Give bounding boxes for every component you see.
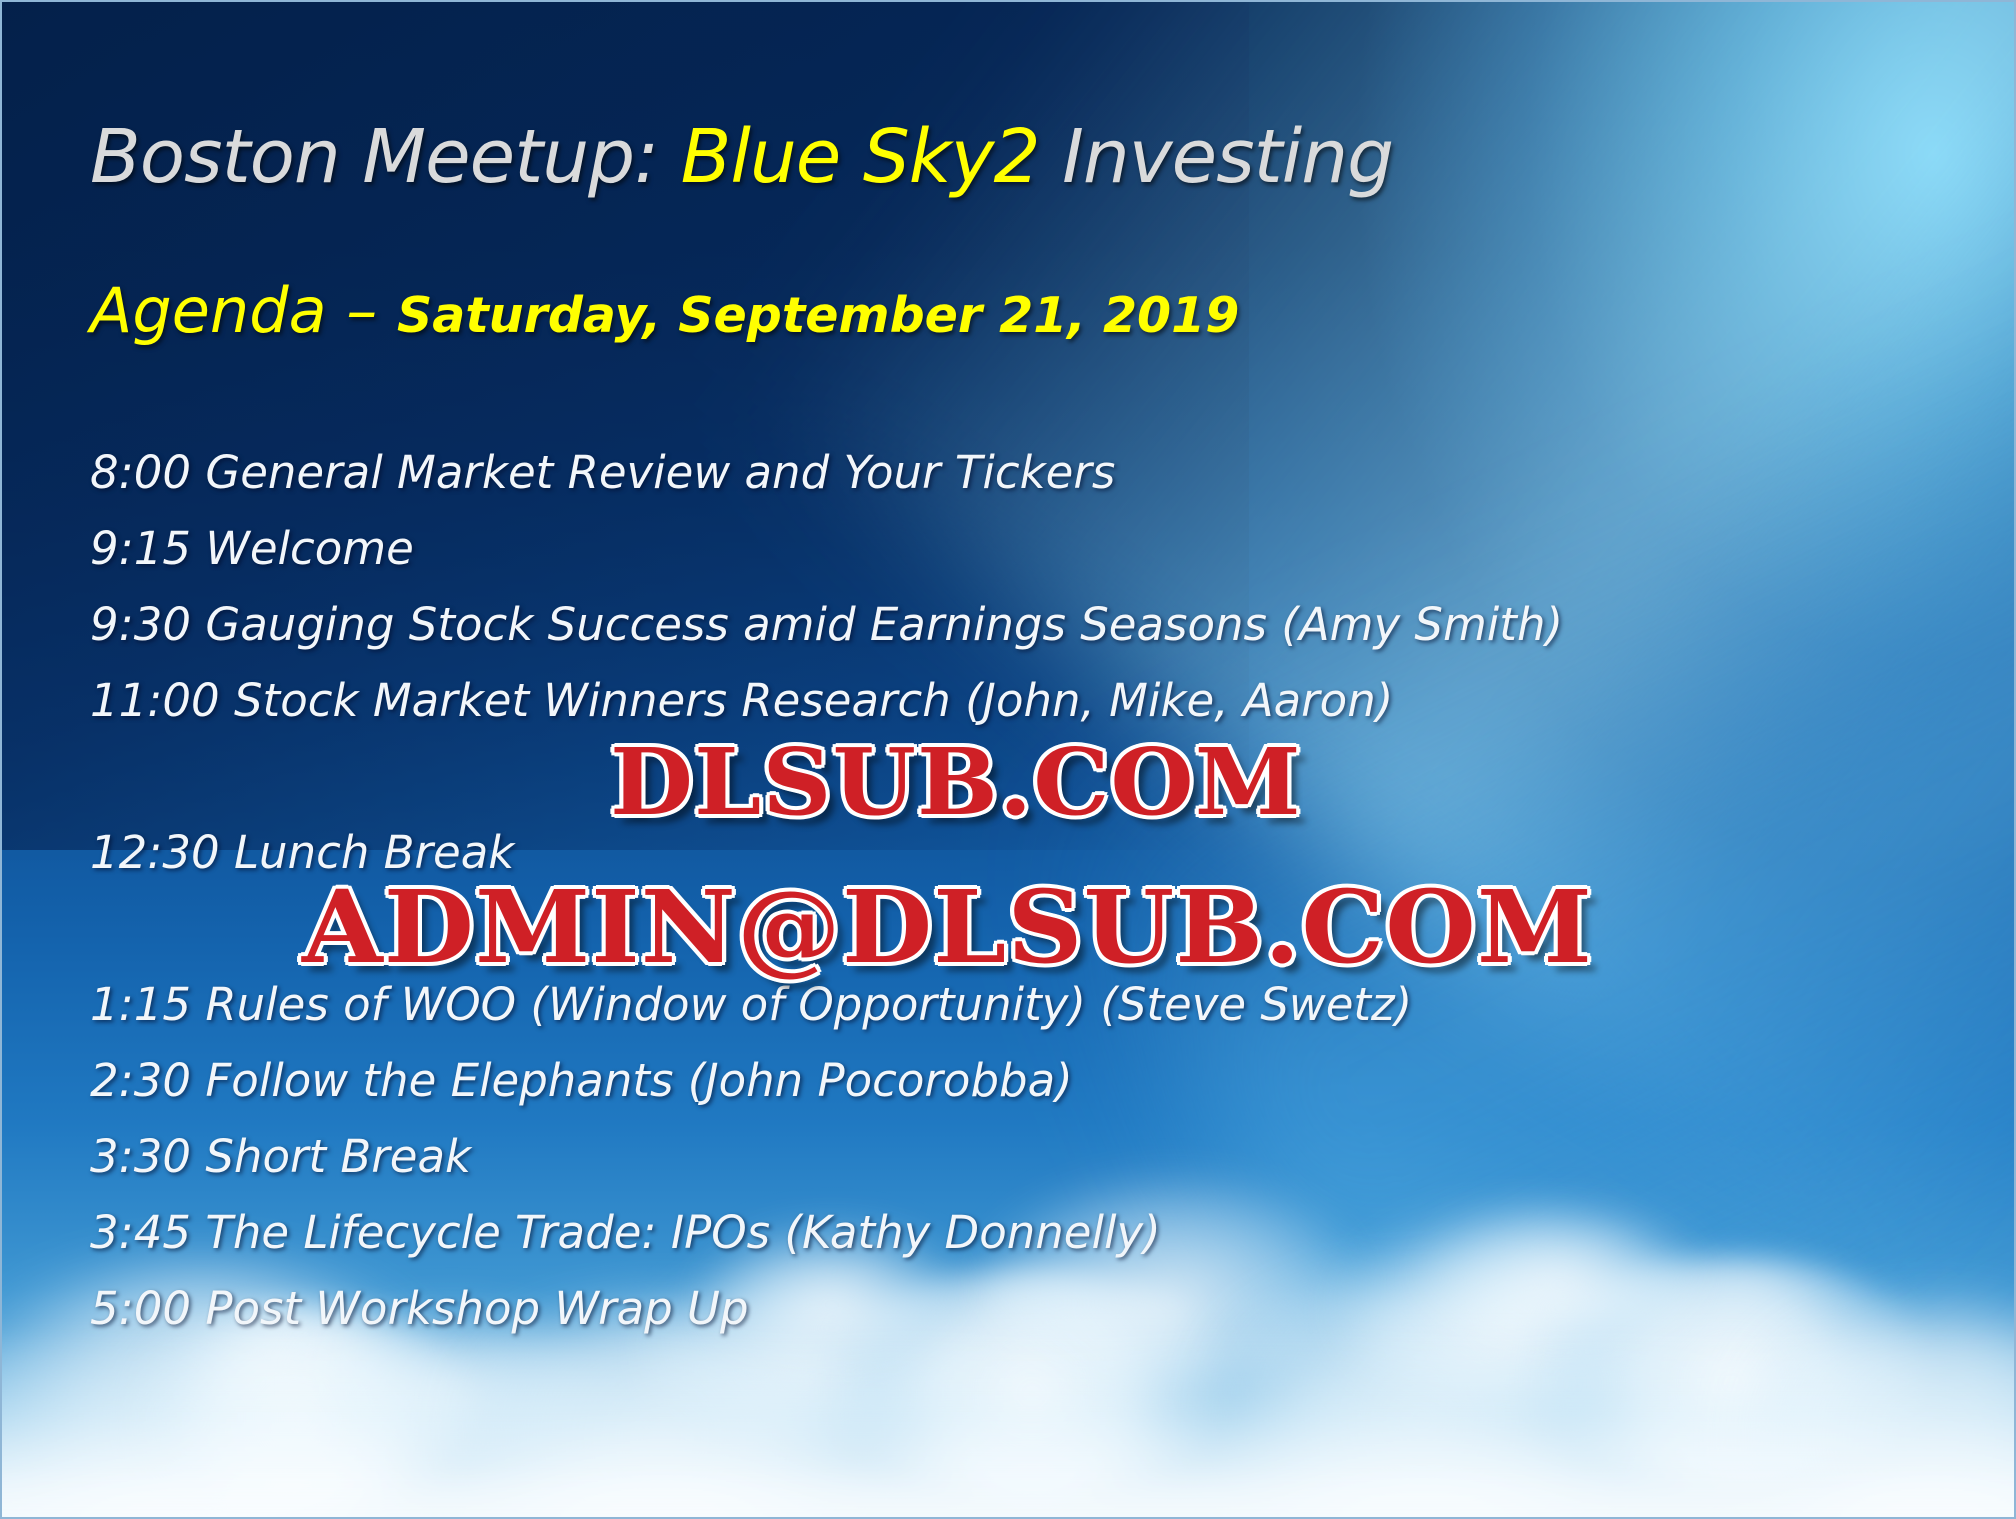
agenda-item: 2:30 Follow the Elephants (John Pocorobb…: [90, 1042, 1890, 1118]
agenda-item: 3:45 The Lifecycle Trade: IPOs (Kathy Do…: [90, 1194, 1890, 1270]
agenda-item: 8:00 General Market Review and Your Tick…: [90, 434, 1890, 510]
subtitle-date: Saturday, September 21, 2019: [397, 287, 1239, 344]
agenda-item: 11:00 Stock Market Winners Research (Joh…: [90, 662, 1890, 738]
agenda-item: 5:00 Post Workshop Wrap Up: [90, 1270, 1890, 1346]
title-part-two: Investing: [1040, 114, 1394, 200]
watermark-site: DLSUB.COM: [610, 728, 1302, 836]
agenda-item: 9:15 Welcome: [90, 510, 1890, 586]
presentation-slide: Boston Meetup: Blue Sky2 Investing Agend…: [0, 0, 2016, 1519]
agenda-item: 9:30 Gauging Stock Success amid Earnings…: [90, 586, 1890, 662]
agenda-item: 3:30 Short Break: [90, 1118, 1890, 1194]
slide-title: Boston Meetup: Blue Sky2 Investing: [90, 114, 1393, 200]
watermark-email: ADMIN@DLSUB.COM: [302, 868, 1593, 986]
title-part-one: Boston Meetup:: [90, 114, 681, 200]
slide-subtitle: Agenda – Saturday, September 21, 2019: [90, 274, 1239, 347]
subtitle-lead: Agenda –: [90, 274, 397, 347]
title-highlight: Blue Sky2: [681, 114, 1040, 200]
